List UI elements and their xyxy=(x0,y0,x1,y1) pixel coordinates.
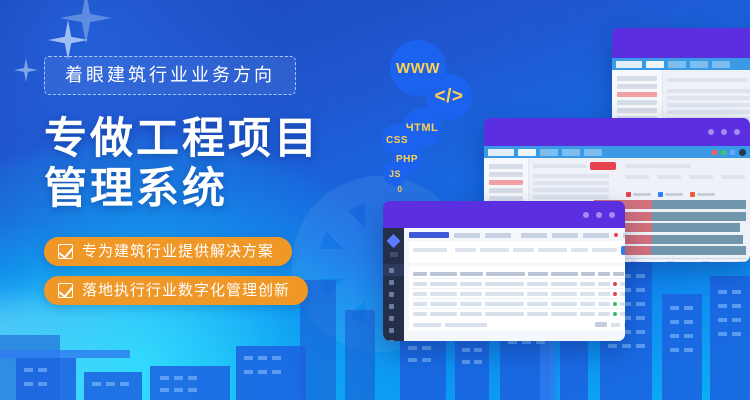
status-badge xyxy=(613,312,617,316)
sparkle-icon xyxy=(60,0,112,44)
table-row[interactable] xyxy=(412,299,625,309)
stat-label xyxy=(689,175,713,179)
selection-count xyxy=(413,323,441,327)
alert-icon[interactable] xyxy=(712,150,717,155)
status-badge xyxy=(613,302,617,306)
table-row xyxy=(667,96,750,100)
notification-badge[interactable] xyxy=(614,233,618,237)
sidebar-item-selected[interactable] xyxy=(617,92,657,97)
window-titlebar xyxy=(612,28,750,58)
list-item xyxy=(533,174,609,178)
menu-icon xyxy=(389,304,394,309)
sidebar-item-selected[interactable] xyxy=(383,264,404,276)
nav-tab[interactable] xyxy=(540,149,558,156)
app-logo xyxy=(616,61,642,68)
sidebar-item[interactable] xyxy=(617,76,657,81)
filter-select[interactable] xyxy=(480,248,509,252)
table-row[interactable] xyxy=(412,289,625,299)
zero-bubble: 0 xyxy=(392,181,408,197)
feature-pill-list: 专为建筑行业提供解决方案 落地执行行业数字化管理创新 xyxy=(44,237,374,305)
table-footer xyxy=(412,318,625,328)
data-table xyxy=(409,266,625,331)
window-body xyxy=(383,228,625,341)
column-header xyxy=(551,272,578,276)
sidebar-item[interactable] xyxy=(489,172,523,177)
table-row[interactable] xyxy=(412,309,625,318)
content-pane xyxy=(404,228,625,341)
column-header xyxy=(613,272,623,276)
status-badge xyxy=(613,282,617,286)
table-row[interactable] xyxy=(412,279,625,289)
window-controls[interactable] xyxy=(583,212,615,218)
breadcrumb-item[interactable] xyxy=(454,233,480,238)
page-size-select[interactable] xyxy=(624,323,625,327)
sidebar-item[interactable] xyxy=(489,164,523,169)
column-header xyxy=(460,272,483,276)
sidebar-menu xyxy=(383,228,404,341)
column-header xyxy=(430,272,457,276)
app-topnav xyxy=(612,58,750,70)
stat-label xyxy=(657,175,681,179)
column-header xyxy=(581,272,595,276)
promo-banner: 着眼建筑行业业务方向 专做工程项目 管理系统 专为建筑行业提供解决方案 落地执行… xyxy=(0,0,750,400)
sidebar-item[interactable] xyxy=(383,312,404,324)
app-logo xyxy=(488,149,514,156)
menu-icon xyxy=(389,316,394,321)
bulk-actions[interactable] xyxy=(445,323,487,327)
menu-icon xyxy=(389,280,394,285)
check-square-icon xyxy=(58,244,73,259)
feature-pill-2-label: 落地执行行业数字化管理创新 xyxy=(82,283,290,298)
toolbar-action[interactable] xyxy=(521,233,547,238)
settings-icon[interactable] xyxy=(730,150,735,155)
sidebar-item[interactable] xyxy=(617,84,657,89)
stat-label xyxy=(625,175,649,179)
legend-entry xyxy=(626,192,651,197)
search-button[interactable] xyxy=(621,246,625,255)
headline-line-2: 管理系统 xyxy=(44,165,374,215)
column-header xyxy=(528,272,549,276)
breadcrumb xyxy=(409,232,625,238)
breadcrumb-title xyxy=(409,232,449,238)
sidebar-item[interactable] xyxy=(383,288,404,300)
page-button[interactable] xyxy=(611,323,620,327)
sidebar-item-selected[interactable] xyxy=(489,180,523,185)
headline-block: 着眼建筑行业业务方向 专做工程项目 管理系统 专为建筑行业提供解决方案 落地执行… xyxy=(44,56,374,315)
window-controls[interactable] xyxy=(708,129,740,135)
chart-legend xyxy=(594,192,746,197)
message-icon[interactable] xyxy=(721,150,726,155)
app-topnav xyxy=(484,146,750,158)
sidebar-item[interactable] xyxy=(383,300,404,312)
stat-label xyxy=(721,175,745,179)
toolbar-action[interactable] xyxy=(552,233,578,238)
sidebar-item[interactable] xyxy=(383,276,404,288)
nav-tab[interactable] xyxy=(584,149,602,156)
filter-input[interactable] xyxy=(592,248,617,252)
nav-tab[interactable] xyxy=(712,61,730,68)
page-button[interactable] xyxy=(595,322,607,327)
table-row xyxy=(667,110,750,114)
column-header xyxy=(598,272,610,276)
app-logo-subtitle xyxy=(390,252,398,257)
window-titlebar xyxy=(484,118,750,146)
feature-pill-2[interactable]: 落地执行行业数字化管理创新 xyxy=(44,276,308,305)
avatar[interactable] xyxy=(739,149,746,156)
table-header-row xyxy=(412,269,625,279)
breadcrumb-item[interactable] xyxy=(485,233,511,238)
sparkle-icon xyxy=(14,58,38,82)
nav-tab[interactable] xyxy=(690,61,708,68)
nav-tab[interactable] xyxy=(562,149,580,156)
filter-label xyxy=(513,248,534,252)
sidebar-item[interactable] xyxy=(617,108,657,113)
filter-label xyxy=(571,248,588,252)
legend-entry xyxy=(658,192,683,197)
search-input[interactable] xyxy=(533,164,585,168)
headline-line-1: 专做工程项目 xyxy=(44,115,374,165)
app-logo-icon xyxy=(387,234,401,248)
feature-pill-1[interactable]: 专为建筑行业提供解决方案 xyxy=(44,237,292,266)
filter-select[interactable] xyxy=(538,248,567,252)
window-titlebar xyxy=(383,201,625,228)
sidebar-item[interactable] xyxy=(617,100,657,105)
sidebar-item[interactable] xyxy=(383,324,404,336)
menu-icon xyxy=(389,268,394,273)
nav-tab[interactable] xyxy=(518,149,536,156)
eyebrow-tag: 着眼建筑行业业务方向 xyxy=(44,56,296,95)
table-row xyxy=(667,89,750,93)
table-row xyxy=(667,103,750,107)
feature-pill-1-label: 专为建筑行业提供解决方案 xyxy=(82,244,274,259)
user-menu[interactable] xyxy=(623,233,625,238)
menu-icon xyxy=(389,340,394,342)
menu-icon xyxy=(389,328,394,333)
legend-entry xyxy=(690,192,715,197)
list-item xyxy=(533,181,609,185)
page-title: 专做工程项目 管理系统 xyxy=(44,115,374,215)
filter-field[interactable] xyxy=(667,78,747,82)
check-square-icon xyxy=(58,283,73,298)
filter-bar xyxy=(409,241,625,263)
sidebar-item[interactable] xyxy=(489,188,523,193)
primary-action-button[interactable] xyxy=(590,162,616,170)
column-header xyxy=(486,272,525,276)
sidebar-item[interactable] xyxy=(383,336,404,341)
section-title xyxy=(625,164,691,168)
column-header xyxy=(413,272,427,276)
nav-tab[interactable] xyxy=(646,61,664,68)
filter-label xyxy=(455,248,476,252)
nav-tab[interactable] xyxy=(668,61,686,68)
status-badge xyxy=(613,292,617,296)
dashboard-window-front xyxy=(383,201,625,341)
toolbar-action[interactable] xyxy=(583,233,609,238)
menu-icon xyxy=(389,292,394,297)
filter-label xyxy=(413,248,447,252)
